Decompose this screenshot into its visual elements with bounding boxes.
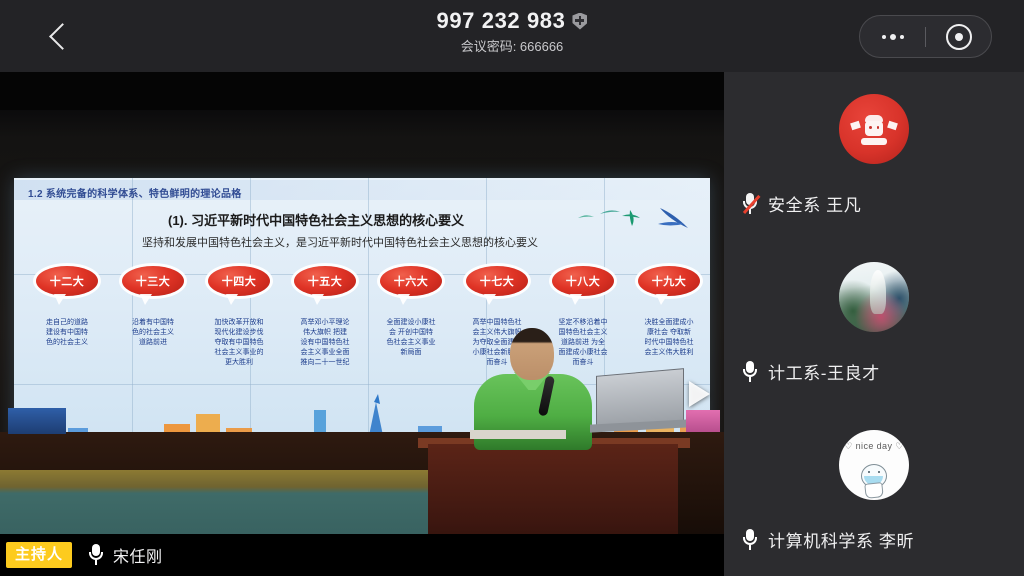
video-frame: 1.2 系统完备的科学体系、特色鲜明的理论品格 (1). 习近平新时代中国特色社… <box>0 72 724 576</box>
mic-arc <box>743 369 757 377</box>
birds-decoration-icon <box>574 204 694 238</box>
congress-column-text: 走自己的道路建设有中国特色的社会主义 <box>27 318 107 348</box>
back-chevron-icon <box>49 23 76 50</box>
play-arrow-icon[interactable] <box>682 372 716 416</box>
participant-name-row: 安全系 王凡 <box>742 191 861 216</box>
party-congress-bubble-row: 十二大 十三大 十四大 十五大 十六大 十七大 十八大 十九大 <box>14 266 710 312</box>
congress-bubble-label: 十八大 <box>566 273 601 289</box>
avatar-tree <box>870 270 886 314</box>
congress-bubble: 十二大 <box>36 266 98 296</box>
desk-papers <box>470 430 566 439</box>
avatar-figure <box>857 115 891 145</box>
avatar-nice-day: ♡ nice day ♡ <box>839 430 909 500</box>
congress-column-text: 决胜全面建成小康社会 夺取新时代中国特色社会主义伟大胜利 <box>629 318 709 358</box>
congress-column-text: 沿着有中国特色的社会主义道路前进 <box>113 318 193 348</box>
congress-bubble: 十五大 <box>294 266 356 296</box>
avatar-base <box>861 138 887 145</box>
avatar-arm-left <box>850 121 861 130</box>
target-ring <box>946 24 972 50</box>
congress-column-text: 加快改革开放和现代化建设步伐夺取有中国特色社会主义事业的更大胜利 <box>199 318 279 368</box>
meeting-id-text: 997 232 983 <box>437 8 566 34</box>
avatar-landscape-photo <box>839 262 909 332</box>
avatar-body <box>864 482 883 499</box>
shield-plus-icon <box>572 13 587 30</box>
congress-column-text: 高举邓小平理论伟大旗帜 把建设有中国特色社会主义事业全面推向二十一世纪 <box>285 318 365 368</box>
avatar-eye-left <box>868 471 870 473</box>
mic-stem <box>749 209 751 214</box>
mic-arc <box>743 537 757 545</box>
avatar-eye-left <box>869 126 872 129</box>
congress-bubble-label: 十四大 <box>222 273 257 289</box>
host-status-bar: 主持人 宋任刚 <box>0 534 724 576</box>
congress-bubble: 十六大 <box>380 266 442 296</box>
participant-name: 安全系 王凡 <box>768 191 861 216</box>
target-dot <box>955 33 963 41</box>
mic-stem <box>749 377 751 382</box>
congress-bubble: 十九大 <box>638 266 700 296</box>
avatar-image <box>839 262 909 332</box>
dot-right <box>900 35 904 39</box>
congress-bubble: 十八大 <box>552 266 614 296</box>
circle-target-icon[interactable] <box>926 16 991 57</box>
mic-stem <box>95 560 97 565</box>
speaker-head <box>510 328 554 380</box>
slide-subheading: 坚持和发展中国特色社会主义，是习近平新时代中国特色社会主义思想的核心要义 <box>142 234 538 250</box>
microphone-icon <box>88 544 104 566</box>
avatar-eye-right <box>878 471 880 473</box>
congress-bubble-label: 十九大 <box>652 273 687 289</box>
desk-blue-object <box>8 408 66 434</box>
participant-list[interactable]: 安全系 王凡 计工系-王良才 ♡ ni <box>724 72 1024 576</box>
slide-heading: (1). 习近平新时代中国特色社会主义思想的核心要义 <box>168 210 464 229</box>
more-dots-icon[interactable] <box>860 16 925 57</box>
meeting-app-root: 997 232 983 会议密码: 666666 <box>0 0 1024 576</box>
microphone-icon[interactable] <box>742 529 758 551</box>
host-name: 宋任刚 <box>113 543 163 567</box>
microphone-icon[interactable] <box>742 361 758 383</box>
play-triangle <box>689 381 710 407</box>
congress-bubble-label: 十六大 <box>394 273 429 289</box>
main-video-stage[interactable]: 1.2 系统完备的科学体系、特色鲜明的理论品格 (1). 习近平新时代中国特色社… <box>0 72 724 576</box>
avatar-image: ♡ nice day ♡ <box>839 430 909 500</box>
congress-bubble: 十七大 <box>466 266 528 296</box>
dot-middle <box>890 34 896 40</box>
congress-bubble-label: 十五大 <box>308 273 343 289</box>
participant-tile[interactable]: ♡ nice day ♡ 计算机科学系 李昕 <box>724 408 1024 576</box>
avatar-image <box>839 94 909 164</box>
participant-name-row: 计工系-王良才 <box>742 359 880 384</box>
congress-bubble: 十三大 <box>122 266 184 296</box>
participant-tile[interactable]: 计工系-王良才 <box>724 240 1024 408</box>
congress-column-text: 全面建设小康社会 开创中国特色社会主义事业新局面 <box>371 318 451 358</box>
dot-left <box>882 35 886 39</box>
miniprogram-capsule[interactable] <box>859 15 992 58</box>
avatar-caption: ♡ nice day ♡ <box>839 441 909 452</box>
avatar-eye-right <box>877 126 880 129</box>
participant-name: 计工系-王良才 <box>768 359 880 384</box>
host-badge: 主持人 <box>6 542 72 568</box>
participant-name-row: 计算机科学系 李昕 <box>742 527 914 552</box>
avatar-arm-right <box>887 121 898 130</box>
back-button[interactable] <box>38 14 82 58</box>
slide-section-title: 1.2 系统完备的科学体系、特色鲜明的理论品格 <box>28 185 242 200</box>
meeting-id-row: 997 232 983 <box>437 8 588 34</box>
top-navigation-bar: 997 232 983 会议密码: 666666 <box>0 0 1024 72</box>
microphone-muted-icon[interactable] <box>742 193 758 215</box>
participant-tile[interactable]: 安全系 王凡 <box>724 72 1024 240</box>
avatar-red-cartoon <box>839 94 909 164</box>
congress-bubble-label: 十七大 <box>480 273 515 289</box>
mic-arc <box>89 552 103 560</box>
congress-bubble-label: 十三大 <box>136 273 171 289</box>
congress-bubble-label: 十二大 <box>50 273 85 289</box>
mic-stem <box>749 545 751 550</box>
avatar-face <box>865 121 883 136</box>
participant-name: 计算机科学系 李昕 <box>768 527 914 552</box>
congress-bubble: 十四大 <box>208 266 270 296</box>
